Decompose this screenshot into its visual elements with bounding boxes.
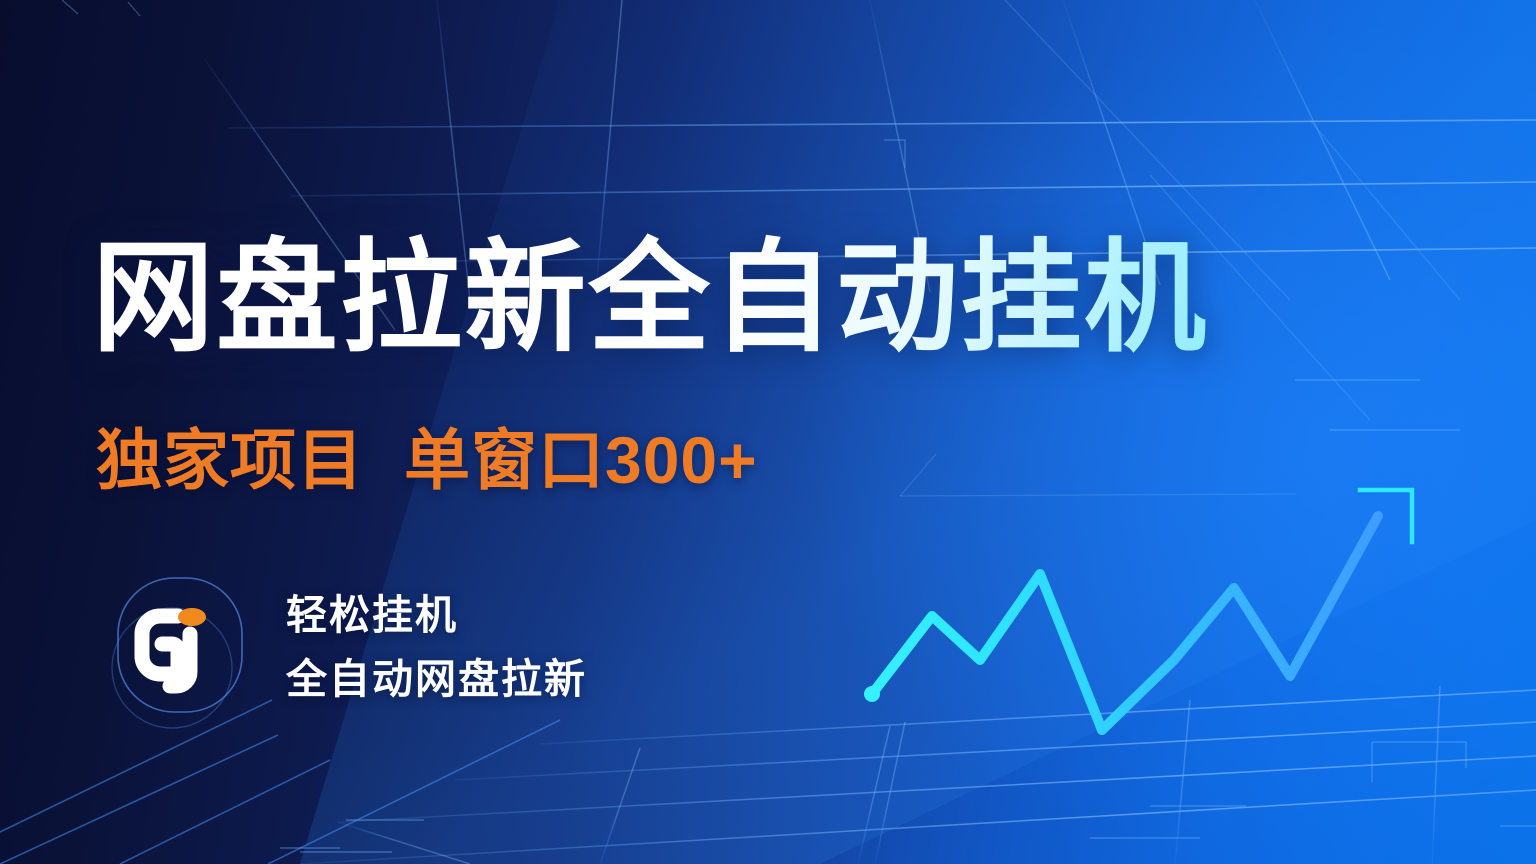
- logo-orange-dot-icon: [178, 608, 206, 626]
- logo-letter-g: [142, 616, 178, 674]
- bg-circuit-trace: [280, 806, 1246, 852]
- chart-growth-line: [872, 516, 1378, 730]
- tagline-line-2: 全自动网盘拉新: [286, 651, 587, 707]
- bg-diagonals-left: [0, 700, 560, 864]
- headline-wrapper: 网盘拉新全自动挂机: [92, 228, 1452, 368]
- bg-bracket-corner: [1372, 742, 1536, 826]
- growth-line-chart-graphic: [840, 450, 1480, 770]
- subheadline: 独家项目单窗口300+: [96, 418, 758, 502]
- bg-stray-marks: [62, 0, 140, 16]
- chart-tick-marks: [892, 578, 1368, 750]
- headline-title: 网盘拉新全自动挂机: [92, 228, 1452, 368]
- subheadline-right-text: 单窗口300+: [404, 423, 758, 497]
- subheadline-left-text: 独家项目: [96, 423, 364, 497]
- brand-taglines: 轻松挂机 全自动网盘拉新: [286, 583, 587, 707]
- gj-monogram-logo-icon: [112, 572, 248, 718]
- chart-start-dot: [864, 686, 880, 702]
- promo-poster: 网盘拉新全自动挂机 独家项目单窗口300+ 轻松挂机 全自动网盘拉新: [0, 0, 1536, 864]
- brand-block: 轻松挂机 全自动网盘拉新: [112, 572, 587, 718]
- tagline-line-1: 轻松挂机: [286, 587, 587, 643]
- chart-arrow-corner-bracket: [1360, 490, 1412, 542]
- chart-guide-lines: [900, 454, 1296, 496]
- brand-badge: [112, 572, 248, 718]
